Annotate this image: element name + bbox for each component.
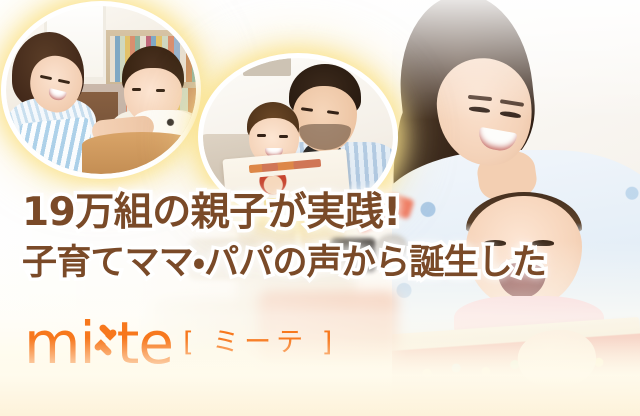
c2-child-eye-right xyxy=(279,135,288,138)
c1-toddler-eye-right xyxy=(156,89,165,92)
brand-logo[interactable]: mi te [ ミーテ ] xyxy=(24,314,337,372)
circle-1-inner xyxy=(6,6,196,174)
heart-icon-lower xyxy=(99,343,112,355)
promo-banner: 19万組の親子が実践! 子育てママ・パパの声から誕生した mi te [ ミーテ… xyxy=(0,0,640,416)
heart-colon-icon xyxy=(96,317,116,363)
brand-wordmark-suffix: te xyxy=(117,314,173,372)
c2-wall-frame xyxy=(243,58,291,76)
headline-line-2: 子育てママ・パパの声から誕生した xyxy=(22,238,546,288)
heart-icon-upper xyxy=(99,325,112,337)
c2-child-eye-left xyxy=(257,134,266,137)
brand-wordmark-prefix: mi xyxy=(24,314,95,372)
headline-line-1: 19万組の親子が実践! xyxy=(22,188,546,238)
photo-mother-and-toddler-at-table xyxy=(6,6,196,174)
c1-toddler-eye-left xyxy=(132,88,141,91)
headline: 19万組の親子が実践! 子育てママ・パパの声から誕生した xyxy=(22,188,546,288)
brand-kana-reading: [ ミーテ ] xyxy=(183,320,337,359)
c1-wooden-table xyxy=(82,132,196,174)
brand-wordmark: mi te xyxy=(24,314,173,372)
